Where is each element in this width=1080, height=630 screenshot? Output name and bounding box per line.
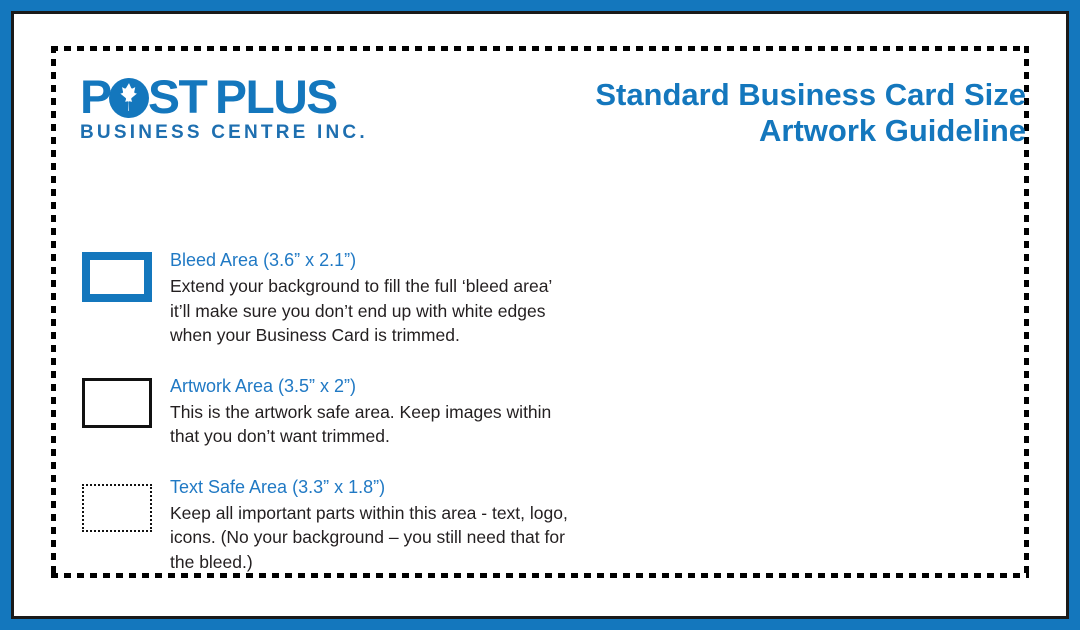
legend-item-text: Text Safe Area (3.3” x 1.8”) Keep all im… (170, 476, 702, 575)
legend-body-bleed-area: Extend your background to fill the full … (170, 274, 702, 348)
legend-item-bleed-area: Bleed Area (3.6” x 2.1”) Extend your bac… (82, 249, 702, 348)
legend-body-line: when your Business Card is trimmed. (170, 323, 702, 348)
logo-post-post: ST (148, 74, 206, 120)
legend-heading-artwork-area: Artwork Area (3.5” x 2”) (170, 375, 702, 398)
legend-body-line: the bleed.) (170, 550, 702, 575)
page-title-line-1: Standard Business Card Size (595, 77, 1026, 113)
logo-post-pre: P (80, 74, 110, 120)
dashed-edge-top (51, 46, 1029, 51)
page-frame: P ST PLUS BUSINESS CENTRE INC. Standard … (0, 0, 1080, 630)
legend-body-line: Keep all important parts within this are… (170, 501, 702, 526)
legend-item-text-safe-area: Text Safe Area (3.3” x 1.8”) Keep all im… (82, 476, 702, 575)
content-area: P ST PLUS BUSINESS CENTRE INC. Standard … (64, 59, 1044, 579)
logo-wordmark: P ST PLUS (80, 74, 380, 120)
dashed-edge-left (51, 46, 56, 578)
keyline-border: P ST PLUS BUSINESS CENTRE INC. Standard … (11, 11, 1069, 619)
legend-item-text: Bleed Area (3.6” x 2.1”) Extend your bac… (170, 249, 702, 348)
maple-leaf-icon (109, 76, 149, 118)
company-logo: P ST PLUS BUSINESS CENTRE INC. (80, 74, 380, 144)
logo-tagline: BUSINESS CENTRE INC. (80, 122, 380, 144)
maple-leaf-glyph (117, 83, 141, 111)
artwork-area-swatch (82, 378, 152, 428)
legend-body-line: icons. (No your background – you still n… (170, 525, 702, 550)
page-title-line-2: Artwork Guideline (595, 113, 1026, 149)
legend-body-artwork-area: This is the artwork safe area. Keep imag… (170, 400, 702, 449)
legend-heading-text-safe-area: Text Safe Area (3.3” x 1.8”) (170, 476, 702, 499)
logo-plus: PLUS (215, 74, 337, 120)
legend-item-text: Artwork Area (3.5” x 2”) This is the art… (170, 375, 702, 449)
legend-body-line: This is the artwork safe area. Keep imag… (170, 400, 702, 425)
legend-heading-bleed-area: Bleed Area (3.6” x 2.1”) (170, 249, 702, 272)
legend-body-line: Extend your background to fill the full … (170, 274, 702, 299)
legend-item-artwork-area: Artwork Area (3.5” x 2”) This is the art… (82, 375, 702, 449)
legend-body-line: it’ll make sure you don’t end up with wh… (170, 299, 702, 324)
page-title: Standard Business Card Size Artwork Guid… (595, 77, 1026, 149)
legend-body-line: that you don’t want trimmed. (170, 424, 702, 449)
legend-list: Bleed Area (3.6” x 2.1”) Extend your bac… (82, 249, 702, 574)
bleed-area-swatch (82, 252, 152, 302)
text-safe-area-swatch (82, 484, 152, 532)
legend-body-text-safe-area: Keep all important parts within this are… (170, 501, 702, 575)
